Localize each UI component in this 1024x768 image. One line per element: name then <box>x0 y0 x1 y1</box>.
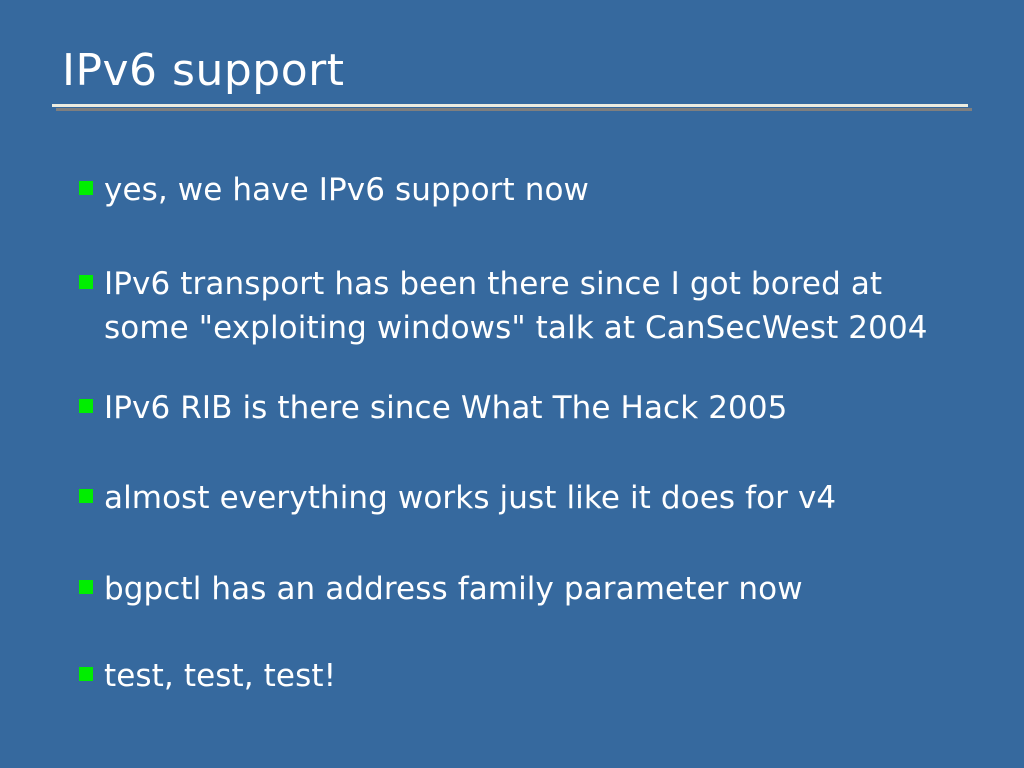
list-item: IPv6 RIB is there since What The Hack 20… <box>79 386 979 430</box>
list-item: bgpctl has an address family parameter n… <box>79 567 979 611</box>
list-item-label: IPv6 transport has been there since I go… <box>104 262 979 350</box>
page-title: IPv6 support <box>52 44 972 98</box>
spacer <box>79 350 979 386</box>
spacer <box>79 611 979 654</box>
spacer <box>79 430 979 476</box>
list-item-label: IPv6 RIB is there since What The Hack 20… <box>104 386 979 430</box>
list-item: test, test, test! <box>79 654 979 698</box>
list-item-label: yes, we have IPv6 support now <box>104 168 979 212</box>
square-bullet-icon <box>79 275 93 289</box>
list-item-label: almost everything works just like it doe… <box>104 476 979 520</box>
title-underline-shadow <box>56 108 972 111</box>
square-bullet-icon <box>79 580 93 594</box>
list-item: IPv6 transport has been there since I go… <box>79 262 979 350</box>
title-underline <box>52 104 972 114</box>
slide: IPv6 support yes, we have IPv6 support n… <box>0 0 1024 768</box>
list-item-label: test, test, test! <box>104 654 979 698</box>
spacer <box>79 212 979 262</box>
list-item: almost everything works just like it doe… <box>79 476 979 520</box>
square-bullet-icon <box>79 489 93 503</box>
square-bullet-icon <box>79 399 93 413</box>
title-block: IPv6 support <box>52 44 972 114</box>
list-item: yes, we have IPv6 support now <box>79 168 979 212</box>
square-bullet-icon <box>79 667 93 681</box>
square-bullet-icon <box>79 181 93 195</box>
title-underline-line <box>52 104 968 107</box>
bullet-list: yes, we have IPv6 support now IPv6 trans… <box>79 168 979 698</box>
list-item-label: bgpctl has an address family parameter n… <box>104 567 979 611</box>
spacer <box>79 520 979 567</box>
